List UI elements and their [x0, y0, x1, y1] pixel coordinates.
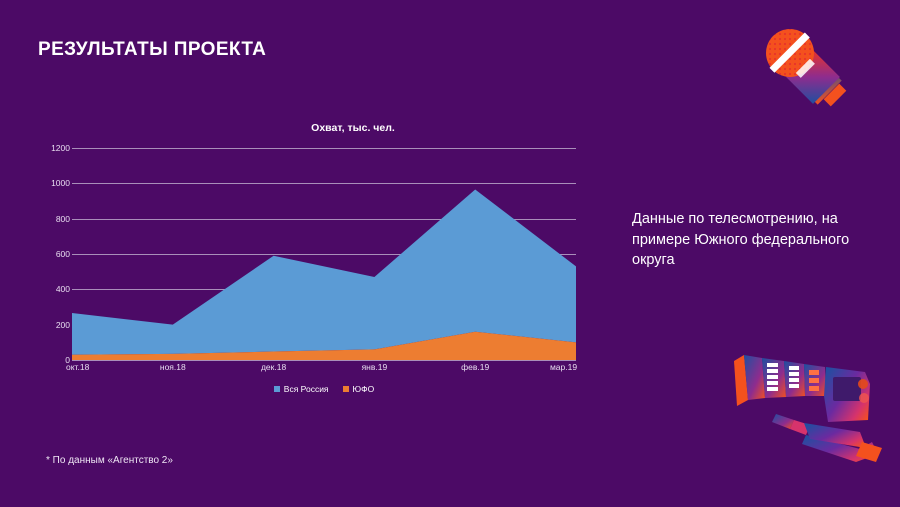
- side-description: Данные по телесмотрению, на примере Южно…: [632, 209, 882, 271]
- page-title: РЕЗУЛЬТАТЫ ПРОЕКТА: [38, 39, 266, 61]
- y-axis-tick-label: 0: [10, 355, 70, 365]
- area-series-vsya-rossiya: [72, 190, 576, 355]
- y-axis-tick-label: 800: [10, 214, 70, 224]
- chart-area-series: [72, 148, 576, 360]
- chart-plot-area: 020040060080010001200: [72, 148, 576, 360]
- y-axis-tick-label: 1000: [10, 178, 70, 188]
- x-axis-tick-label: фев.19: [461, 362, 489, 372]
- slide-root: РЕЗУЛЬТАТЫ ПРОЕКТА Охват, тыс. чел. 0200…: [0, 0, 900, 507]
- chart-x-axis: окт.18ноя.18дек.18янв.19фев.19мар.19: [72, 362, 576, 378]
- x-axis-tick-label: дек.18: [261, 362, 286, 372]
- x-axis-tick-label: ноя.18: [160, 362, 186, 372]
- legend-swatch: [343, 386, 349, 392]
- microphone-icon: [758, 22, 878, 122]
- x-axis-tick-label: окт.18: [66, 362, 89, 372]
- legend-item[interactable]: Вся Россия: [274, 384, 329, 394]
- legend-swatch: [274, 386, 280, 392]
- tv-camera-icon: [710, 344, 890, 469]
- x-axis-tick-label: мар.19: [550, 362, 577, 372]
- legend-label: ЮФО: [353, 384, 375, 394]
- y-axis-tick-label: 1200: [10, 143, 70, 153]
- legend-item[interactable]: ЮФО: [343, 384, 375, 394]
- gridline: [72, 360, 576, 361]
- chart-title: Охват, тыс. чел.: [233, 122, 473, 134]
- x-axis-tick-label: янв.19: [362, 362, 388, 372]
- legend-label: Вся Россия: [284, 384, 329, 394]
- y-axis-tick-label: 600: [10, 249, 70, 259]
- chart-container: Охват, тыс. чел. 020040060080010001200 о…: [28, 112, 588, 412]
- y-axis-tick-label: 400: [10, 284, 70, 294]
- chart-legend: Вся РоссияЮФО: [72, 384, 576, 394]
- footnote-source: * По данным «Агентство 2»: [46, 455, 173, 466]
- y-axis-tick-label: 200: [10, 320, 70, 330]
